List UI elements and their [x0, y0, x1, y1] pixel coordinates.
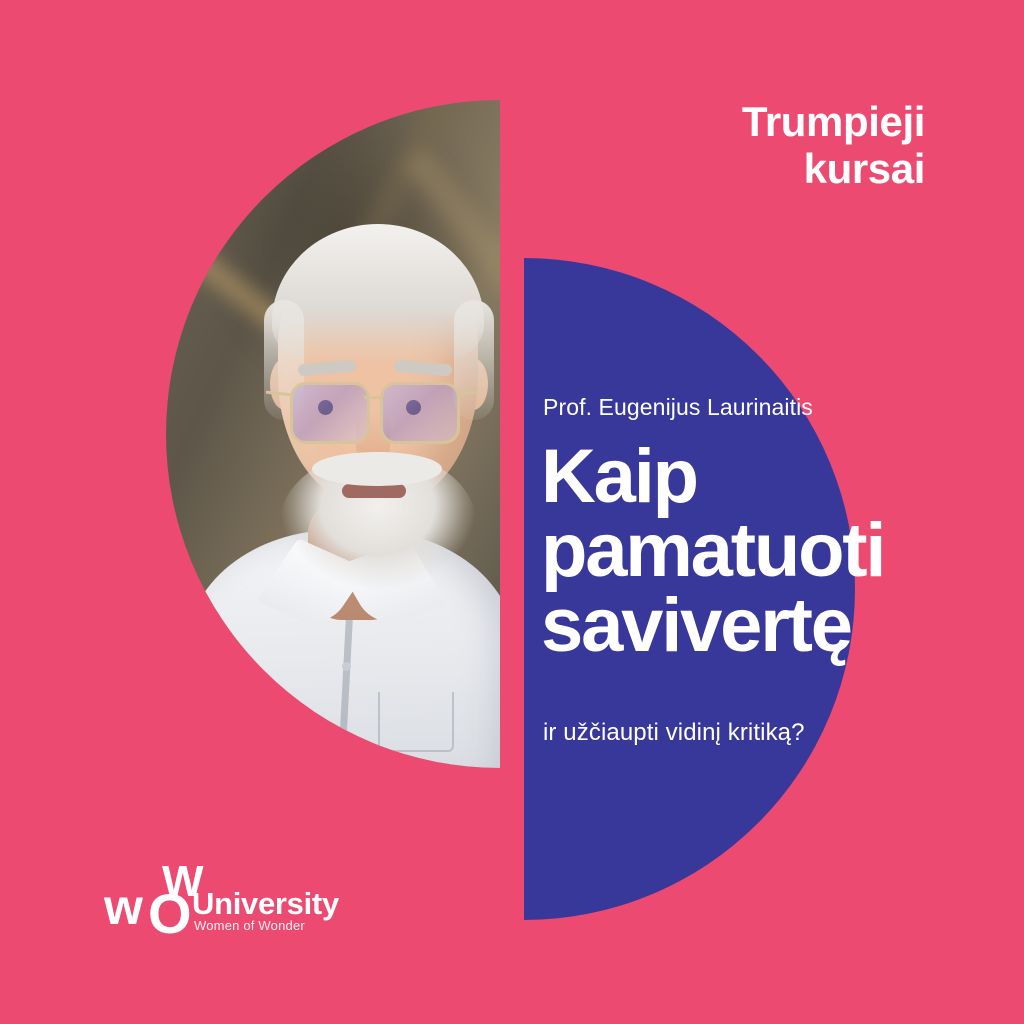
page-subtitle: ir užčiaupti vidinį kritiką?: [543, 719, 805, 747]
poster-canvas: Trumpieji kursai Prof. Eugenijus Laurina…: [0, 0, 1024, 1024]
portrait-shirt-button: [342, 662, 351, 671]
portrait-shirt-button: [342, 742, 351, 751]
speaker-portrait-photo: [166, 100, 500, 768]
logo-mark-w-left: w: [104, 882, 141, 932]
glasses-lens-right: [380, 382, 460, 444]
course-category-line-1: Trumpieji: [742, 98, 925, 145]
brand-tagline: Women of Wonder: [194, 918, 305, 933]
page-title-line-1: Kaip: [541, 440, 1011, 514]
glasses-bridge: [364, 396, 382, 399]
portrait-moustache: [312, 452, 442, 486]
logo-mark-o: O: [148, 886, 192, 942]
course-category-heading: Trumpieji kursai: [505, 98, 925, 192]
brand-logo: w W O University Women of Wonder: [104, 858, 364, 938]
course-category-line-2: kursai: [804, 145, 925, 192]
portrait-shirt-pocket: [378, 692, 454, 752]
brand-name: University: [192, 886, 339, 922]
page-title-line-3: savivertę: [541, 589, 1011, 663]
page-title: Kaip pamatuoti savivertę: [541, 440, 1011, 663]
glasses-lens-left: [290, 382, 370, 444]
portrait-hair-side-right: [454, 300, 494, 420]
speaker-name: Prof. Eugenijus Laurinaitis: [543, 394, 813, 421]
page-title-line-2: pamatuoti: [541, 514, 1011, 588]
portrait-mouth: [342, 484, 406, 498]
photo-background: [166, 100, 500, 768]
